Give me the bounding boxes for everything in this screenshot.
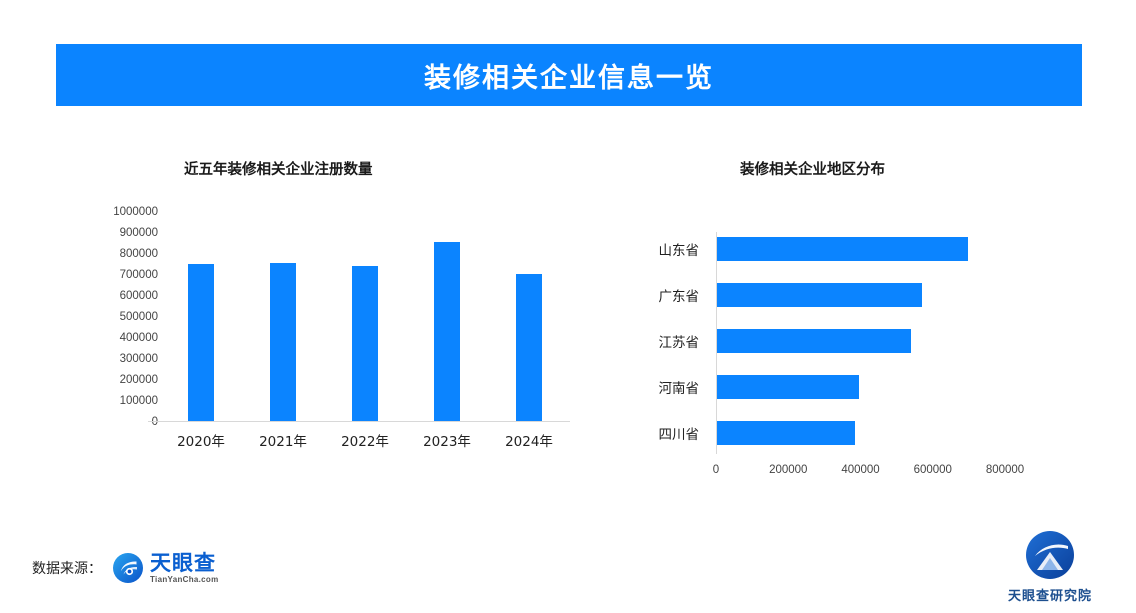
bar-广东省: [717, 283, 922, 307]
institute-name: 天眼查研究院: [1008, 585, 1092, 604]
data-source-label: 数据来源：: [32, 558, 102, 578]
bar-江苏省: [717, 329, 911, 353]
chart-title-regions: 装修相关企业地区分布: [740, 158, 885, 179]
y-axis-ticks: 1000000900000800000700000600000500000400…: [102, 212, 158, 422]
institute-footer: 天眼查研究院: [990, 528, 1110, 604]
header-banner: 装修相关企业信息一览: [56, 44, 1082, 106]
y-axis-tick-label: 500000: [120, 311, 158, 323]
x-axis-tick-label: 600000: [914, 464, 952, 476]
bar-河南省: [717, 375, 859, 399]
bar-slot: [324, 212, 406, 421]
chart-title-registrations: 近五年装修相关企业注册数量: [184, 158, 373, 179]
page-title: 装修相关企业信息一览: [424, 56, 714, 95]
category-label-四川省: 四川省: [659, 423, 700, 443]
x-axis-tick-label: 2024年: [488, 430, 570, 450]
vertical-bar-plot-area: 1000000900000800000700000600000500000400…: [160, 212, 570, 422]
x-axis-tick-label: 2020年: [160, 430, 242, 450]
bar-slot: [160, 212, 242, 421]
vertical-bar-series: [160, 212, 570, 421]
chart-panel-registrations: 近五年装修相关企业注册数量 10000009000008000007000006…: [100, 150, 600, 490]
y-axis-tick-label: 1000000: [113, 206, 158, 218]
x-axis-tick-label: 2021年: [242, 430, 324, 450]
data-source-footer: 数据来源： 天眼查: [32, 552, 219, 584]
tianyancha-wordmark: 天眼查 TianYanCha.com: [150, 553, 219, 584]
tianyancha-logo-icon: [112, 552, 144, 584]
category-label-广东省: 广东省: [659, 285, 700, 305]
infographic-page: 装修相关企业信息一览 近五年装修相关企业注册数量 100000090000080…: [0, 0, 1136, 613]
x-axis-category-labels: 2020年2021年2022年2023年2024年: [160, 430, 570, 450]
bar-2023年: [434, 242, 460, 421]
bar-row: 四川省: [717, 421, 1006, 445]
x-axis-value-labels: 0200000400000600000800000: [716, 464, 1006, 482]
bar-2021年: [270, 263, 296, 421]
y-axis-tick-label: 700000: [120, 269, 158, 281]
bar-山东省: [717, 237, 968, 261]
tianyancha-brand-en: TianYanCha.com: [150, 576, 219, 584]
horizontal-bar-plot-area: 山东省广东省江苏省河南省四川省 020000040000060000080000…: [716, 232, 1006, 459]
y-axis-tick-label: 900000: [120, 227, 158, 239]
tianyancha-institute-logo-icon: [1023, 528, 1077, 582]
bar-2024年: [516, 274, 542, 421]
bar-slot: [242, 212, 324, 421]
y-axis-tick-label: 300000: [120, 353, 158, 365]
category-label-江苏省: 江苏省: [659, 331, 700, 351]
x-axis-tick-label: 400000: [841, 464, 879, 476]
y-axis-tick-label: 200000: [120, 374, 158, 386]
x-axis-tick-label: 200000: [769, 464, 807, 476]
x-axis-baseline: [148, 421, 570, 422]
bar-row: 山东省: [717, 237, 1006, 261]
bar-row: 广东省: [717, 283, 1006, 307]
y-axis-tick-label: 800000: [120, 248, 158, 260]
bar-row: 河南省: [717, 375, 1006, 399]
x-axis-tick-label: 2023年: [406, 430, 488, 450]
y-axis-tick-label: 0: [152, 416, 158, 428]
x-axis-tick-label: 2022年: [324, 430, 406, 450]
category-label-河南省: 河南省: [659, 377, 700, 397]
x-axis-tick-label: 0: [713, 464, 719, 476]
bar-slot: [488, 212, 570, 421]
bar-row: 江苏省: [717, 329, 1006, 353]
bar-slot: [406, 212, 488, 421]
chart-panel-regions: 装修相关企业地区分布 山东省广东省江苏省河南省四川省 0200000400000…: [630, 150, 1060, 510]
y-axis-tick-label: 100000: [120, 395, 158, 407]
bar-四川省: [717, 421, 855, 445]
category-label-山东省: 山东省: [659, 239, 700, 259]
tianyancha-brand-cn: 天眼查: [150, 553, 219, 574]
x-axis-tick-label: 800000: [986, 464, 1024, 476]
horizontal-bar-series: 山东省广东省江苏省河南省四川省: [717, 232, 1006, 454]
bar-2020年: [188, 264, 214, 421]
bar-2022年: [352, 266, 378, 421]
y-axis-tick-label: 400000: [120, 332, 158, 344]
y-axis-tick-label: 600000: [120, 290, 158, 302]
tianyancha-logo: 天眼查 TianYanCha.com: [112, 552, 219, 584]
